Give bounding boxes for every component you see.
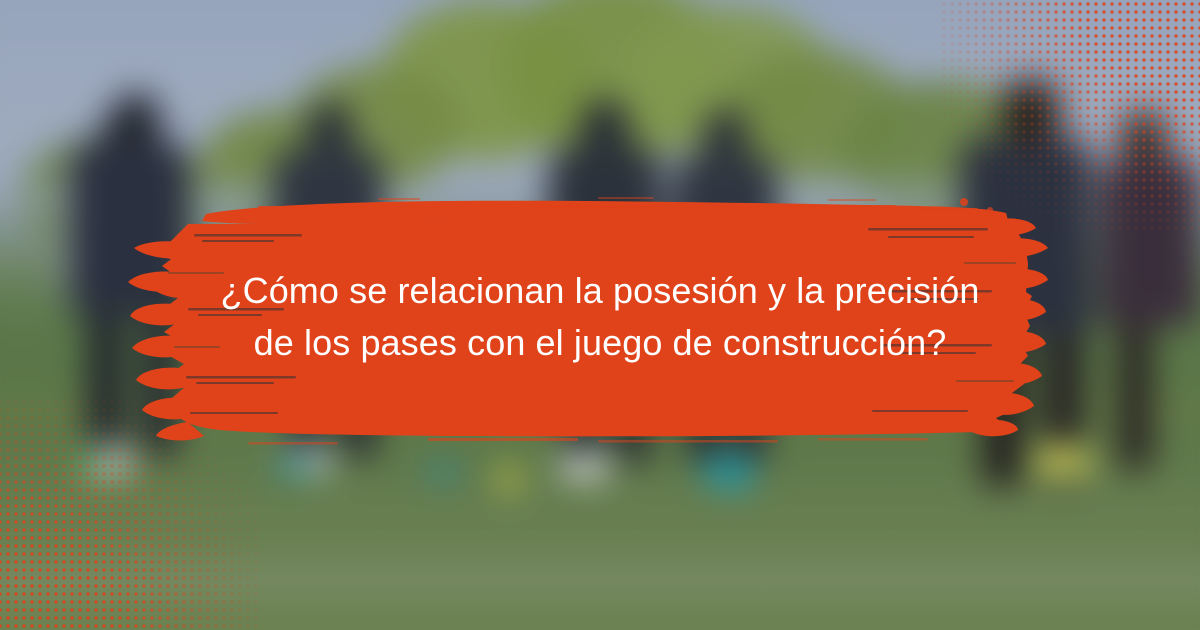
headline-line-2: de los pases con el juego de construcció… [150, 317, 1050, 369]
page-title: ¿Cómo se relacionan la posesión y la pre… [150, 265, 1050, 369]
question-card: ¿Cómo se relacionan la posesión y la pre… [0, 0, 1200, 630]
headline-line-1: ¿Cómo se relacionan la posesión y la pre… [150, 265, 1050, 317]
